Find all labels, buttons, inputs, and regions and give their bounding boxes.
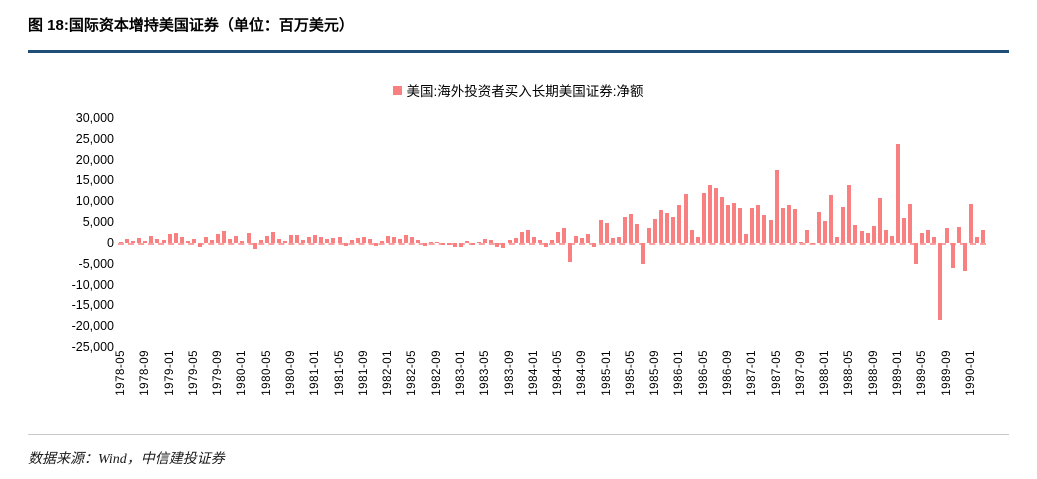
- bar: [957, 227, 961, 243]
- bar: [295, 235, 299, 243]
- x-axis-tick-label: 1981-01: [309, 350, 321, 396]
- bar: [222, 231, 226, 243]
- bar: [787, 205, 791, 243]
- bar: [514, 238, 518, 243]
- bar: [969, 204, 973, 243]
- bar: [325, 239, 329, 243]
- x-axis-tick-label: 1980-09: [285, 350, 297, 396]
- bar: [277, 239, 281, 243]
- bar: [465, 241, 469, 243]
- x-axis-tick-label: 1984-01: [528, 350, 540, 396]
- bar: [483, 239, 487, 243]
- x-axis-tick-label: 1986-01: [673, 350, 685, 396]
- bar: [489, 240, 493, 243]
- bar: [841, 207, 845, 243]
- bar: [174, 233, 178, 243]
- bar: [508, 240, 512, 242]
- x-axis-tick-label: 1982-05: [406, 350, 418, 396]
- x-axis-tick-label: 1986-09: [722, 350, 734, 396]
- bar: [192, 239, 196, 243]
- y-axis-tick-label: -15,000: [72, 298, 114, 312]
- x-axis-tick-label: 1978-09: [139, 350, 151, 396]
- x-axis-tick-label: 1984-09: [576, 350, 588, 396]
- footer-divider: [28, 434, 1009, 435]
- bar: [963, 243, 967, 271]
- bar: [356, 238, 360, 243]
- bar: [368, 239, 372, 243]
- bar: [550, 240, 554, 242]
- bar: [878, 198, 882, 243]
- y-axis-tick-label: 5,000: [83, 215, 114, 229]
- bar: [501, 243, 505, 248]
- x-axis-tick-label: 1985-05: [625, 350, 637, 396]
- bar: [926, 230, 930, 242]
- x-axis-tick-label: 1981-09: [358, 350, 370, 396]
- y-axis-tick-label: -10,000: [72, 278, 114, 292]
- bar: [429, 242, 433, 243]
- bar: [210, 240, 214, 242]
- bar: [592, 243, 596, 247]
- bar: [186, 241, 190, 243]
- bar: [975, 237, 979, 243]
- bar: [611, 238, 615, 243]
- bar: [938, 243, 942, 320]
- bar: [307, 237, 311, 243]
- bar: [119, 242, 123, 243]
- bar: [453, 243, 457, 247]
- bar: [180, 237, 184, 242]
- bar: [762, 215, 766, 242]
- bar: [380, 241, 384, 243]
- bar: [775, 170, 779, 242]
- bar: [410, 237, 414, 243]
- bar: [301, 240, 305, 243]
- bar: [240, 241, 244, 243]
- bar: [756, 205, 760, 243]
- bar: [168, 234, 172, 243]
- y-axis-tick-label: 10,000: [76, 194, 114, 208]
- bar: [520, 232, 524, 243]
- bar: [629, 214, 633, 243]
- bar: [568, 243, 572, 262]
- bar: [495, 243, 499, 248]
- bar: [265, 236, 269, 243]
- y-axis-tick-label: 25,000: [76, 132, 114, 146]
- x-axis-tick-label: 1988-09: [868, 350, 880, 396]
- bar: [781, 208, 785, 243]
- bar: [204, 237, 208, 243]
- x-axis-tick-label: 1987-05: [771, 350, 783, 396]
- bar: [708, 185, 712, 243]
- bar: [435, 242, 439, 243]
- bar: [162, 240, 166, 243]
- x-axis-tick-label: 1988-01: [819, 350, 831, 396]
- x-axis-tick-label: 1989-09: [941, 350, 953, 396]
- bar: [228, 239, 232, 243]
- bar: [750, 208, 754, 243]
- bar: [884, 230, 888, 243]
- x-axis-tick-label: 1989-05: [916, 350, 928, 396]
- x-axis-tick-label: 1990-01: [965, 350, 977, 396]
- bar: [653, 219, 657, 243]
- bar: [647, 228, 651, 243]
- bar: [805, 230, 809, 242]
- bar: [283, 241, 287, 243]
- bar: [811, 243, 815, 244]
- x-axis-tick-label: 1986-05: [698, 350, 710, 396]
- x-axis-tick-label: 1984-05: [552, 350, 564, 396]
- bar: [580, 238, 584, 243]
- bar: [338, 237, 342, 243]
- x-axis-tick-label: 1979-05: [188, 350, 200, 396]
- bar: [392, 237, 396, 242]
- bar: [459, 243, 463, 247]
- bar: [829, 195, 833, 243]
- bar: [143, 241, 147, 243]
- bar: [289, 235, 293, 242]
- bar: [137, 238, 141, 243]
- bar: [198, 243, 202, 247]
- bar-series: [118, 118, 986, 347]
- x-axis-tick-label: 1985-01: [601, 350, 613, 396]
- bar: [477, 242, 481, 243]
- y-axis-tick-label: -20,000: [72, 319, 114, 333]
- bar: [635, 224, 639, 243]
- bar: [817, 212, 821, 243]
- bar: [793, 209, 797, 243]
- x-axis-tick-label: 1985-09: [649, 350, 661, 396]
- bar: [234, 236, 238, 243]
- bar: [853, 225, 857, 243]
- bar: [216, 234, 220, 243]
- bar: [149, 236, 153, 243]
- bar: [471, 243, 475, 245]
- bar: [902, 218, 906, 243]
- bar: [847, 185, 851, 242]
- bar: [866, 233, 870, 243]
- bar: [247, 233, 251, 243]
- bar: [416, 240, 420, 243]
- bar: [617, 237, 621, 243]
- x-axis-tick-label: 1978-05: [115, 350, 127, 396]
- bar: [769, 220, 773, 243]
- bar: [441, 243, 445, 245]
- data-source-note: 数据来源：Wind，中信建投证券: [28, 448, 225, 468]
- y-axis-tick-label: 0: [107, 236, 114, 250]
- bar: [932, 237, 936, 242]
- bar: [659, 210, 663, 243]
- bar: [684, 194, 688, 243]
- bar: [738, 208, 742, 243]
- bar: [951, 243, 955, 268]
- y-axis-tick-label: -25,000: [72, 340, 114, 354]
- bar: [726, 205, 730, 242]
- x-axis: 1978-051978-091979-011979-051979-091980-…: [118, 350, 986, 426]
- bar: [259, 240, 263, 242]
- x-axis-tick-label: 1981-05: [334, 350, 346, 396]
- bar: [690, 230, 694, 242]
- x-axis-tick-label: 1989-01: [892, 350, 904, 396]
- y-axis-tick-label: -5,000: [79, 257, 114, 271]
- bar: [896, 144, 900, 243]
- bar: [623, 217, 627, 243]
- bar: [908, 204, 912, 243]
- bar: [860, 231, 864, 243]
- bar: [696, 237, 700, 243]
- bar: [671, 217, 675, 243]
- bar: [423, 243, 427, 246]
- bar: [447, 243, 451, 245]
- y-axis-tick-label: 15,000: [76, 173, 114, 187]
- bar: [404, 235, 408, 243]
- bar: [526, 230, 530, 242]
- bar: [799, 242, 803, 243]
- bar: [599, 220, 603, 243]
- x-axis-tick-label: 1983-05: [479, 350, 491, 396]
- bar: [981, 230, 985, 243]
- bar: [835, 237, 839, 242]
- bar: [586, 234, 590, 243]
- bar: [702, 193, 706, 243]
- plot-area: [118, 118, 986, 347]
- bar: [331, 238, 335, 243]
- bar: [362, 237, 366, 243]
- bar: [319, 237, 323, 243]
- x-axis-tick-label: 1980-01: [236, 350, 248, 396]
- bar: [605, 223, 609, 243]
- bar: [398, 239, 402, 243]
- x-axis-tick-label: 1982-09: [431, 350, 443, 396]
- x-axis-tick-label: 1983-01: [455, 350, 467, 396]
- x-axis-tick-label: 1979-09: [212, 350, 224, 396]
- bar: [271, 232, 275, 243]
- bar: [920, 233, 924, 243]
- y-axis: 30,00025,00020,00015,00010,0005,0000-5,0…: [48, 110, 114, 350]
- y-axis-tick-label: 20,000: [76, 153, 114, 167]
- bar: [732, 203, 736, 243]
- bar: [125, 239, 129, 243]
- bar: [823, 221, 827, 243]
- chart-container: 30,00025,00020,00015,00010,0005,0000-5,0…: [0, 0, 1037, 479]
- bar: [744, 234, 748, 243]
- bar: [556, 232, 560, 243]
- bar: [344, 243, 348, 246]
- bar: [538, 240, 542, 243]
- x-axis-tick-label: 1987-09: [795, 350, 807, 396]
- x-axis-tick-label: 1982-01: [382, 350, 394, 396]
- bar: [677, 205, 681, 242]
- bar: [665, 213, 669, 243]
- bar: [386, 236, 390, 243]
- x-axis-tick-label: 1983-09: [504, 350, 516, 396]
- bar: [714, 188, 718, 243]
- bar: [945, 228, 949, 243]
- bar: [720, 197, 724, 243]
- bar: [131, 241, 135, 243]
- bar: [313, 235, 317, 243]
- bar: [872, 226, 876, 243]
- y-axis-tick-label: 30,000: [76, 111, 114, 125]
- bar: [562, 228, 566, 243]
- bar: [574, 236, 578, 243]
- x-axis-tick-label: 1979-01: [164, 350, 176, 396]
- bar: [155, 239, 159, 243]
- bar: [253, 243, 257, 249]
- bar: [544, 243, 548, 247]
- bar: [374, 243, 378, 246]
- bar: [641, 243, 645, 264]
- x-axis-tick-label: 1987-01: [746, 350, 758, 396]
- x-axis-tick-label: 1988-05: [843, 350, 855, 396]
- x-axis-tick-label: 1980-05: [261, 350, 273, 396]
- bar: [914, 243, 918, 264]
- bar: [350, 240, 354, 242]
- bar: [890, 236, 894, 243]
- bar: [532, 237, 536, 243]
